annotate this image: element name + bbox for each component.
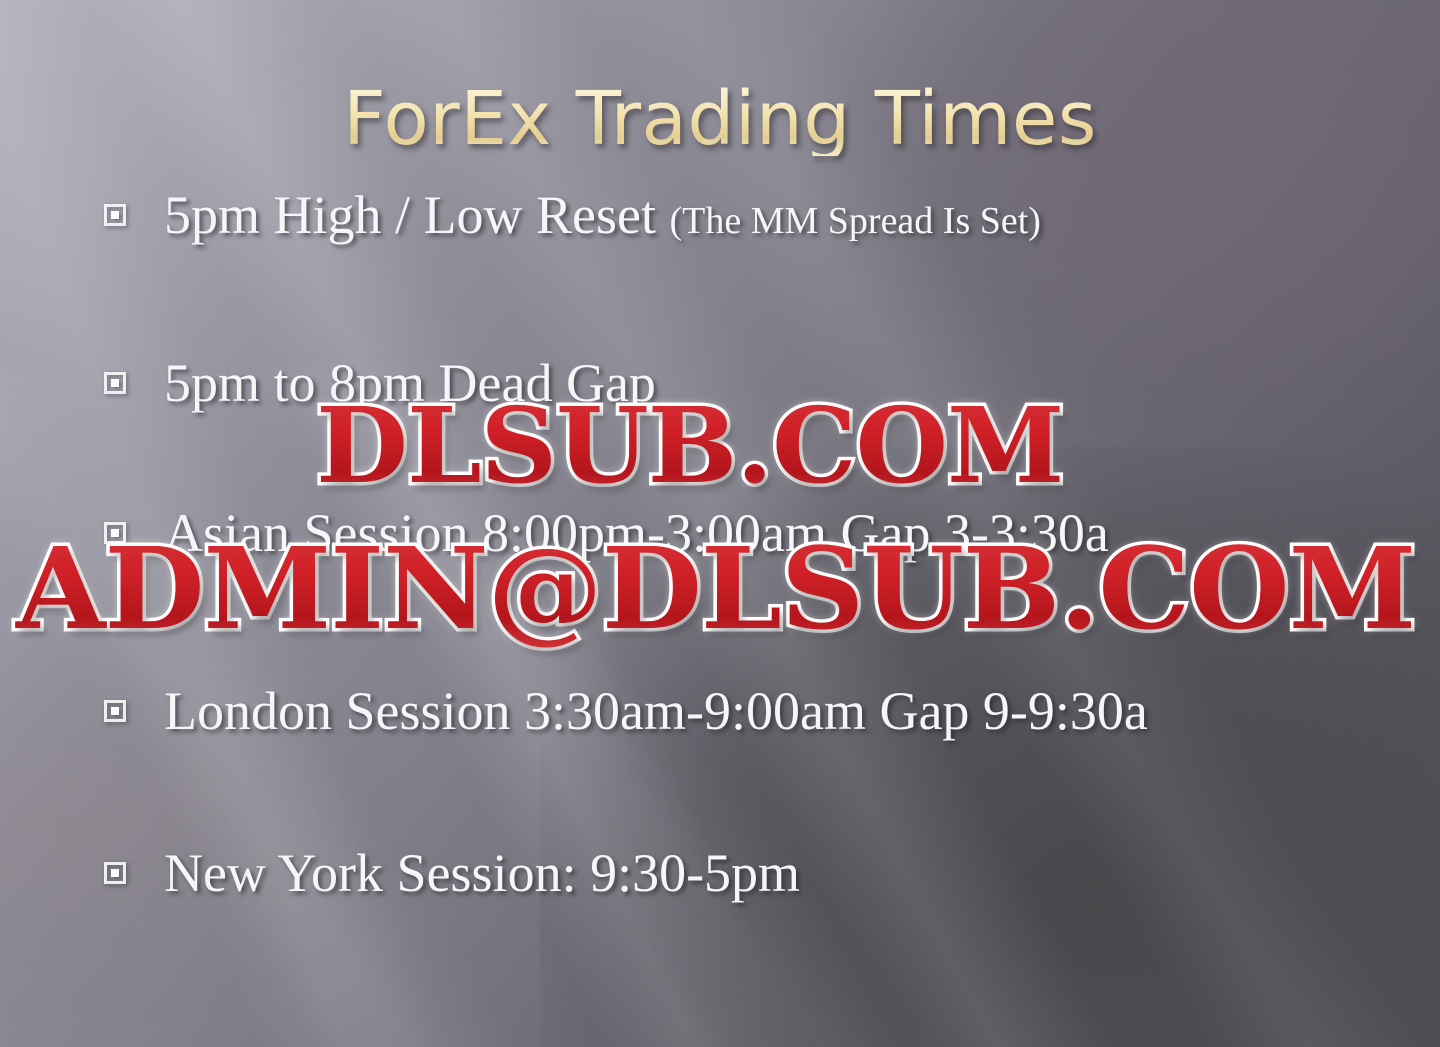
square-bullet-icon — [104, 700, 126, 722]
watermark-site-url: DLSUB.COM DLSUB.COM — [316, 384, 1063, 507]
list-item-main: 5pm High / Low Reset — [164, 185, 669, 245]
list-item: 5pm High / Low Reset (The MM Spread Is S… — [104, 186, 1041, 244]
list-item-text: New York Session: 9:30-5pm — [164, 844, 800, 902]
watermark-contact-email-fill: ADMIN@DLSUB.COM — [16, 524, 1415, 655]
square-bullet-icon — [104, 862, 126, 884]
slide-title: ForEx Trading Times — [0, 82, 1440, 156]
watermark-site-url-fill: DLSUB.COM — [316, 384, 1063, 507]
list-item: New York Session: 9:30-5pm — [104, 844, 800, 902]
square-bullet-icon — [104, 204, 126, 226]
presentation-slide: ForEx Trading Times 5pm High / Low Reset… — [0, 0, 1440, 1047]
square-bullet-icon — [104, 372, 126, 394]
list-item: London Session 3:30am-9:00am Gap 9-9:30a — [104, 682, 1148, 740]
list-item-text: London Session 3:30am-9:00am Gap 9-9:30a — [164, 682, 1148, 740]
list-item-note: (The MM Spread Is Set) — [669, 200, 1040, 242]
list-item-text: 5pm High / Low Reset (The MM Spread Is S… — [164, 186, 1041, 244]
list-item-main: New York Session: 9:30-5pm — [164, 843, 800, 903]
watermark-contact-email: ADMIN@DLSUB.COM ADMIN@DLSUB.COM — [16, 524, 1415, 655]
list-item-main: London Session 3:30am-9:00am Gap 9-9:30a — [164, 681, 1148, 741]
